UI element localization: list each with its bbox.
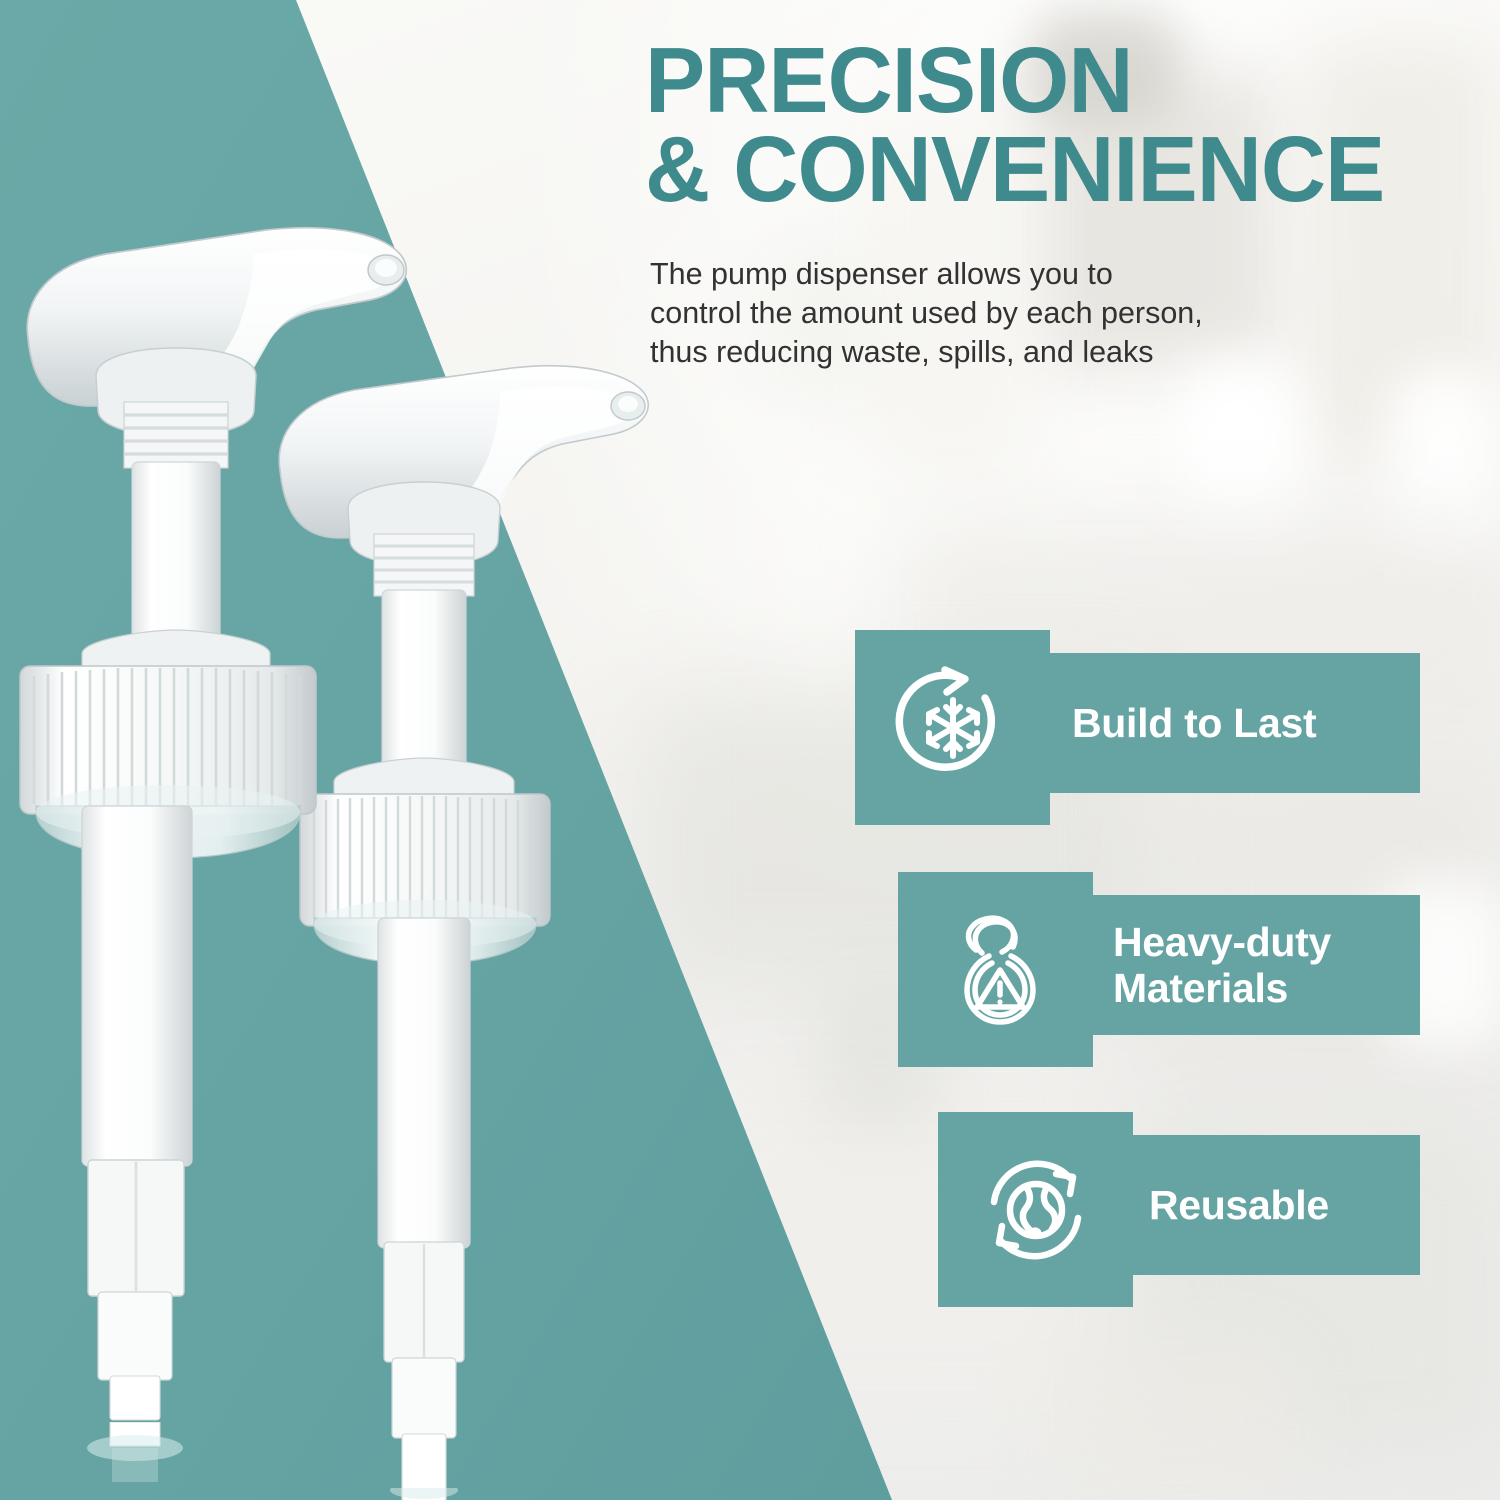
infographic-canvas: PRECISION & CONVENIENCE The pump dispens…: [0, 0, 1500, 1500]
feature-label-bar: Heavy-duty Materials: [1043, 895, 1420, 1035]
feature-label: Heavy-duty Materials: [1113, 919, 1331, 1012]
feature-label-bar: Build to Last: [1000, 653, 1420, 793]
page-title: PRECISION & CONVENIENCE: [645, 36, 1470, 215]
pump-outlet-reflection: [8, 1422, 228, 1500]
snowflake-refresh-icon: [889, 664, 1017, 792]
pump-dispenser-front: [8, 222, 428, 1422]
pump-back-outlet-reflection: [262, 1488, 482, 1500]
feature-label: Build to Last: [1072, 700, 1316, 746]
kettlebell-warning-icon: [932, 906, 1060, 1034]
globe-recycle-icon: [972, 1146, 1100, 1274]
feature-label-bar: Reusable: [1083, 1135, 1420, 1275]
feature-label: Reusable: [1149, 1182, 1329, 1228]
page-subtitle: The pump dispenser allows you to control…: [650, 255, 1350, 372]
